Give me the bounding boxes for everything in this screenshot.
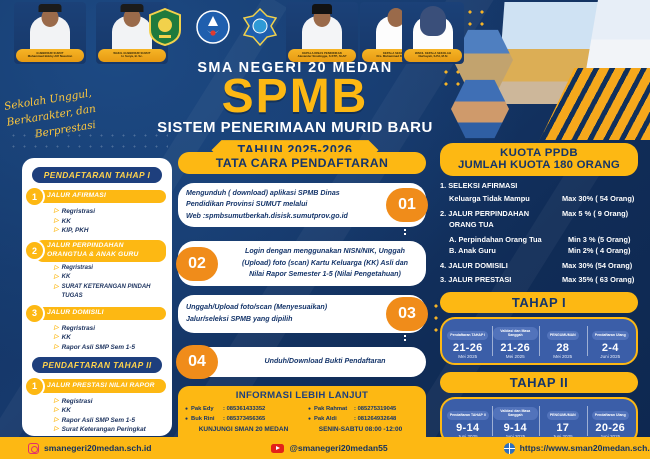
schedule-caption: Pendaftaran Ulang — [592, 331, 629, 340]
bullet-icon: ● — [185, 405, 188, 414]
photo-collage — [435, 0, 650, 140]
jalur-item[interactable]: 1 JALUR PRESTASI NILAI RAPOR — [26, 378, 166, 395]
quota-row: Keluarga Tidak Mampu Max 30% ( 54 Orang) — [440, 194, 638, 205]
contact-item[interactable]: ● Pak Rahmat : 085275319045 — [308, 404, 419, 414]
contact-phone: 085275319045 — [358, 404, 397, 414]
songkok-icon — [312, 4, 332, 14]
schedule-date: 2-4 — [588, 342, 634, 354]
requirement-text: KK — [62, 273, 71, 282]
schedule-date: 17 — [540, 422, 586, 434]
requirement-text: KIP, PKH — [62, 226, 89, 236]
bullet-icon: ▷ — [54, 217, 59, 227]
youtube-icon — [271, 444, 284, 453]
portrait-name: Alexander Sinulingga, S.STP., M.AP — [298, 55, 347, 58]
portrait-cap-icon — [39, 4, 62, 12]
more-info-title: INFORMASI LEBIH LANJUT — [185, 390, 419, 401]
requirement-item: ▷Registrasi — [54, 397, 172, 407]
requirement-text: Regristrasi — [62, 207, 95, 217]
quota-label: Keluarga Tidak Mampu — [440, 194, 562, 205]
youtube-handle: @smanegeri20medan55 — [289, 443, 387, 453]
jalur-label: JALUR AFIRMASI — [35, 190, 166, 203]
step-number: 02 — [176, 247, 218, 281]
requirement-text: KK — [62, 333, 71, 343]
bullet-icon: ▷ — [54, 226, 59, 236]
step-line: Pendidikan Provinsi SUMUT melalui — [186, 199, 348, 210]
social-footer: smanegeri20medan.sch.id @smanegeri20meda… — [0, 437, 650, 459]
step-line: Unduh/Download Bukti Pendaftaran — [232, 356, 418, 367]
lambang-sumut-icon — [148, 8, 182, 46]
requirement-text: Registrasi — [62, 397, 93, 407]
step-line: Mengunduh ( download) aplikasi SPMB Dina… — [186, 188, 348, 199]
dotted-connector — [404, 225, 406, 236]
jalur-label: JALUR PRESTASI NILAI RAPOR — [35, 379, 166, 392]
bullet-icon: ▷ — [54, 264, 59, 274]
portrait-name: Nurhayati, S.Pd, M.Si — [419, 55, 448, 58]
office-hours: SENIN-SABTU 08:00 -12:00 — [302, 426, 419, 433]
contact-list: ● Pak Edy : 085361433352 ● Buk Rini : 08… — [185, 404, 419, 424]
portrait-name-card: WAKIL KEPALA SEKOLAH Nurhayati, S.Pd, M.… — [404, 49, 462, 62]
step-card: Mengunduh ( download) aplikasi SPMB Dina… — [178, 183, 426, 227]
quota-total: JUMLAH KUOTA 180 ORANG — [440, 159, 638, 171]
quota-table: 1. SELEKSI AFIRMASI Keluarga Tidak Mampu… — [440, 181, 638, 285]
quota-label: 4. JALUR DOMISILI — [440, 261, 562, 272]
youtube-link[interactable]: @smanegeri20medan55 — [271, 443, 387, 453]
requirement-item: ▷SURAT KETERANGAN PINDAH TUGAS — [54, 283, 172, 301]
bullet-icon: ▷ — [54, 333, 59, 343]
schedule-cell: PENGUMUMAN 28 Mei 2025 — [539, 323, 587, 359]
website-link[interactable]: https://www.sman20medan.sch.id — [504, 443, 650, 454]
jalur-number: 1 — [26, 378, 43, 395]
schedule-cell: Validasi dan Masa Sanggah 21-26 Mei 2025 — [492, 323, 540, 359]
quota-label: 1. SELEKSI AFIRMASI — [440, 181, 562, 192]
quota-row: 1. SELEKSI AFIRMASI — [440, 181, 638, 192]
website-url: https://www.sman20medan.sch.id — [520, 443, 650, 453]
jalur-label: JALUR DOMISILI — [35, 307, 166, 320]
schedule-cell: Pendaftaran TAHAP II 9-14 Juni 2025 — [444, 403, 492, 439]
bullet-icon: ▷ — [54, 283, 59, 293]
portrait-card: KEPALA DINAS PENDIDIKAN Alexander Sinuli… — [286, 2, 358, 64]
stage-2-header: PENDAFTARAN TAHAP II — [32, 357, 162, 373]
portrait-cap-icon — [121, 4, 144, 12]
how-to-register-heading: TATA CARA PENDAFTARAN — [178, 152, 426, 174]
schedule-caption: PENGUMUMAN — [547, 331, 579, 340]
jalur-number: 3 — [26, 305, 43, 322]
visit-label: KUNJUNGI SMAN 20 MEDAN — [185, 426, 302, 433]
portrait-name: H. Surya, B. Sc. — [121, 55, 142, 58]
contact-phone: 085361433352 — [227, 404, 266, 414]
schedule-date: 21-26 — [493, 342, 539, 354]
quota-row: A. Perpindahan Orang Tua Min 3 % (5 Oran… — [440, 235, 638, 246]
contact-name: Pak Rahmat — [314, 404, 354, 414]
step-number: 03 — [386, 297, 428, 331]
step-line: Web :spmbsumutberkah.disisk.sumutprov.go… — [186, 211, 348, 222]
step-text: Unduh/Download Bukti Pendaftaran — [186, 356, 418, 367]
quota-row: B. Anak Guru Min 2% ( 4 Orang) — [440, 246, 638, 257]
school-tagline: Sekolah Unggul, Berkarakter, dan Berpres… — [3, 77, 159, 147]
how-to-register-section: TATA CARA PENDAFTARAN Mengunduh ( downlo… — [178, 152, 426, 449]
requirement-list: ▷Regristrasi ▷KK ▷SURAT KETERANGAN PINDA… — [54, 264, 172, 301]
schedule-caption: PENGUMUMAN — [547, 411, 579, 420]
requirement-text: SURAT KETERANGAN PINDAH TUGAS — [62, 283, 172, 301]
requirement-list: ▷Regristrasi ▷KK ▷Rapor Asli SMP Sem 1-5 — [54, 324, 172, 353]
schedule-month: Mei 2025 — [493, 354, 539, 359]
bullet-icon: ● — [308, 405, 311, 414]
schedule-caption: Validasi dan Masa Sanggah — [493, 407, 539, 420]
schedule-date: 9-14 — [493, 422, 539, 434]
requirement-item: ▷Rapor Asli SMP Sem 1-5 — [54, 416, 172, 426]
requirement-list: ▷Regristrasi ▷KK ▷KIP, PKH — [54, 207, 172, 236]
spmb-acronym: SPMB — [150, 74, 440, 120]
quota-label: B. Anak Guru — [440, 246, 562, 257]
portrait-card: WAKIL KEPALA SEKOLAH Nurhayati, S.Pd, M.… — [402, 2, 464, 64]
bullet-icon: ▷ — [54, 207, 59, 217]
contact-name: Pak Aldi — [314, 414, 354, 424]
quota-row: ORANG TUA — [440, 220, 638, 231]
instagram-link[interactable]: smanegeri20medan.sch.id — [28, 443, 151, 454]
schedule-cell: Pendaftaran Ulang 20-26 Juni 2025 — [587, 403, 635, 439]
schedule-date: 20-26 — [588, 422, 634, 434]
quota-value: Min 3 % (5 Orang) — [562, 235, 638, 246]
quota-row: 2. JALUR PERPINDAHAN Max 5 % ( 9 Orang) — [440, 209, 638, 220]
globe-icon — [504, 443, 515, 454]
hijab-icon — [420, 6, 446, 36]
contact-phone: 085373456365 — [227, 414, 266, 424]
step-text: Unggah/Upload foto/scan (Menyesuaikan) J… — [186, 302, 373, 325]
tahap-1-schedule: Pendaftaran TAHAP I 21-26 Mei 2025 Valid… — [440, 317, 638, 365]
jalur-item[interactable]: 3 JALUR DOMISILI — [26, 305, 166, 322]
quota-value: Max 30% ( 54 Orang) — [562, 194, 638, 205]
schedule-month: Mei 2025 — [540, 354, 586, 359]
step-connector — [178, 333, 426, 338]
requirement-text: Regristrasi — [62, 264, 93, 273]
spmb-subtitle: SISTEM PENERIMAAN MURID BARU — [150, 119, 440, 136]
visit-row: KUNJUNGI SMAN 20 MEDAN SENIN-SABTU 08:00… — [185, 426, 419, 433]
quota-row: 4. JALUR DOMISILI Max 30% (54 Orang) — [440, 261, 638, 272]
tahap-1-title: TAHAP I — [440, 292, 638, 313]
step-text: Login dengan menggunakan NISN/NIK, Ungga… — [186, 246, 418, 280]
requirement-list: ▷Registrasi ▷KK ▷Rapor Asli SMP Sem 1-5 … — [54, 397, 172, 435]
quota-value: Min 2% ( 4 Orang) — [562, 246, 638, 257]
step-connector — [178, 227, 426, 232]
schedule-date: 28 — [540, 342, 586, 354]
schedule-caption: Pendaftaran Ulang — [592, 411, 629, 420]
requirement-text: Rapor Asli SMP Sem 1-5 — [62, 343, 135, 353]
contact-item[interactable]: ● Pak Edy : 085361433352 — [185, 404, 296, 414]
quota-value: Max 5 % ( 9 Orang) — [562, 209, 638, 220]
quota-label: A. Perpindahan Orang Tua — [440, 235, 562, 246]
jalur-item[interactable]: 2 JALUR PERPINDAHAN ORANGTUA & ANAK GURU — [26, 240, 166, 262]
poster-canvas: GUBERNUR SUMUT Muhammad Bobby Afif Nasut… — [0, 0, 650, 459]
schedule-date: 9-14 — [445, 422, 491, 434]
bullet-icon: ▷ — [54, 273, 59, 283]
contact-phone: 081264932648 — [358, 414, 397, 424]
step-line: Jalur/seleksi SPMB yang dipilih — [186, 314, 327, 325]
bullet-icon: ▷ — [54, 397, 59, 407]
bullet-icon: ● — [308, 415, 311, 424]
step-line: Login dengan menggunakan NISN/NIK, Ungga… — [232, 246, 418, 257]
bullet-icon: ▷ — [54, 324, 59, 334]
quota-label: 3. JALUR PRESTASI — [440, 275, 562, 286]
schedule-month: Mei 2025 — [445, 354, 491, 359]
bullet-icon: ▷ — [54, 343, 59, 353]
jalur-number: 1 — [26, 188, 43, 205]
requirement-text: Rapor Asli SMP Sem 1-5 — [62, 416, 135, 426]
bullet-icon: ▷ — [54, 425, 59, 435]
instagram-handle: smanegeri20medan.sch.id — [44, 443, 151, 453]
requirement-item: ▷Regristrasi — [54, 324, 172, 334]
bullet-icon: ● — [185, 415, 188, 424]
schedule-caption: Pendaftaran TAHAP II — [447, 411, 489, 420]
requirement-text: KK — [62, 406, 71, 416]
schedule-caption: Validasi dan Masa Sanggah — [493, 327, 539, 340]
portrait-name-card: GUBERNUR SUMUT Muhammad Bobby Afif Nasut… — [16, 49, 84, 62]
step-card: Unggah/Upload foto/scan (Menyesuaikan) J… — [178, 295, 426, 333]
quota-label: ORANG TUA — [440, 220, 562, 231]
requirement-text: Regristrasi — [62, 324, 95, 334]
requirement-text: KK — [62, 217, 71, 227]
jalur-item[interactable]: 1 JALUR AFIRMASI — [26, 188, 166, 205]
contact-column-left: ● Pak Edy : 085361433352 ● Buk Rini : 08… — [185, 404, 296, 424]
schedule-cell: Validasi dan Masa Sanggah 9-14 Juni 2025 — [492, 403, 540, 439]
contact-item[interactable]: ● Pak Aldi : 081264932648 — [308, 414, 419, 424]
schedule-cell: Pendaftaran Ulang 2-4 Juni 2025 — [587, 323, 635, 359]
dotted-connector — [404, 331, 406, 342]
title-block: SMA NEGERI 20 MEDAN SPMB SISTEM PENERIMA… — [150, 60, 440, 160]
bullet-icon: ▷ — [54, 406, 59, 416]
tut-wuri-handayani-icon — [196, 8, 230, 46]
requirement-item: ▷KK — [54, 333, 172, 343]
registration-requirements-card: PENDAFTARAN TAHAP I 1 JALUR AFIRMASI ▷Re… — [22, 158, 172, 436]
step-card: 02 Login dengan menggunakan NISN/NIK, Un… — [178, 241, 426, 285]
jalur-label: JALUR PERPINDAHAN ORANGTUA & ANAK GURU — [35, 240, 166, 262]
quota-value: Max 30% (54 Orang) — [562, 261, 638, 272]
contact-item[interactable]: ● Buk Rini : 085373456365 — [185, 414, 296, 424]
requirement-item: ▷KK — [54, 273, 172, 283]
step-line: Unggah/Upload foto/scan (Menyesuaikan) — [186, 302, 327, 313]
requirement-item: ▷KK — [54, 217, 172, 227]
requirement-item: ▷Surat Keterangan Peringkat — [54, 425, 172, 435]
step-text: Mengunduh ( download) aplikasi SPMB Dina… — [186, 188, 394, 222]
schedule-cell: Pendaftaran TAHAP I 21-26 Mei 2025 — [444, 323, 492, 359]
requirement-text: Surat Keterangan Peringkat — [62, 425, 146, 435]
step-card: 04 Unduh/Download Bukti Pendaftaran — [178, 347, 426, 377]
requirement-item: ▷Regristrasi — [54, 264, 172, 274]
portrait-card: GUBERNUR SUMUT Muhammad Bobby Afif Nasut… — [14, 2, 86, 64]
step-line: (Upload) foto (scan) Kartu Keluarga (KK)… — [232, 258, 418, 269]
step-number: 04 — [176, 345, 218, 379]
quota-title: KUOTA PPDB — [440, 147, 638, 159]
contact-column-right: ● Pak Rahmat : 085275319045 ● Pak Aldi :… — [296, 404, 419, 424]
portrait-name: Muhammad Bobby Afif Nasution — [28, 55, 73, 58]
quota-and-schedule-section: KUOTA PPDB JUMLAH KUOTA 180 ORANG 1. SEL… — [440, 143, 638, 445]
quota-header: KUOTA PPDB JUMLAH KUOTA 180 ORANG — [440, 143, 638, 176]
schedule-cell: PENGUMUMAN 17 Juni 2025 — [539, 403, 587, 439]
requirement-item: ▷Regristrasi — [54, 207, 172, 217]
requirement-item: ▷KK — [54, 406, 172, 416]
schedule-date: 21-26 — [445, 342, 491, 354]
stage-1-header: PENDAFTARAN TAHAP I — [32, 167, 162, 183]
logo-dinas-pendidikan-icon — [243, 8, 277, 46]
requirement-item: ▷KIP, PKH — [54, 226, 172, 236]
quota-value: Max 35% ( 63 Orang) — [562, 275, 638, 286]
step-line: Nilai Rapor Semester 1-5 (Nilai Pengetah… — [232, 269, 418, 280]
quota-row: 3. JALUR PRESTASI Max 35% ( 63 Orang) — [440, 275, 638, 286]
quota-label: 2. JALUR PERPINDAHAN — [440, 209, 562, 220]
schedule-month: Juni 2025 — [588, 354, 634, 359]
instagram-icon — [28, 443, 39, 454]
contact-name: Buk Rini — [191, 414, 223, 424]
tahap-2-title: TAHAP II — [440, 372, 638, 393]
requirement-item: ▷Rapor Asli SMP Sem 1-5 — [54, 343, 172, 353]
schedule-caption: Pendaftaran TAHAP I — [447, 331, 488, 340]
contact-name: Pak Edy — [191, 404, 223, 414]
step-number: 01 — [386, 188, 428, 222]
bullet-icon: ▷ — [54, 416, 59, 426]
